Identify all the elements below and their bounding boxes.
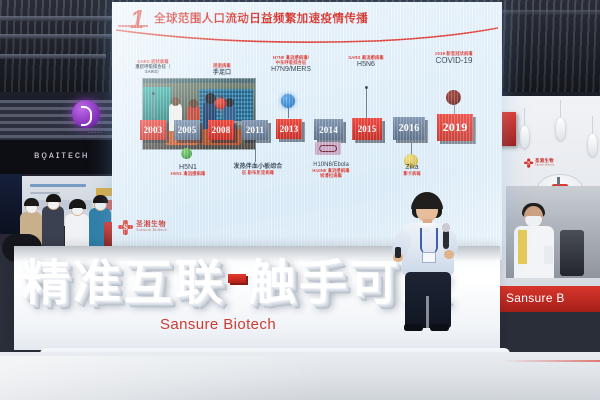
presenter-shoe (430, 324, 449, 331)
counter-bottle (544, 246, 553, 264)
floor-red-streak (500, 360, 600, 362)
pendant-lamp-icon (556, 118, 565, 140)
presenter (392, 192, 464, 332)
right-booth-banner-text: Sansure B (506, 291, 565, 305)
badge-icon (422, 252, 436, 263)
ceiling-beam (500, 10, 600, 15)
right-booth-sansure-logo: S 圣湘生物 Sansure Biotech (524, 156, 571, 170)
headline-dash (228, 274, 246, 283)
pendant-lamp-icon (520, 126, 529, 148)
staff-lanyard (518, 230, 527, 264)
counter-staff (514, 206, 554, 276)
presenter-leg-gap (426, 296, 429, 328)
left-booth-sub-wordmark: ····· (88, 130, 103, 136)
presenter-shoe (404, 324, 423, 331)
floor-reflection (0, 356, 600, 400)
pendant-lamp-icon (588, 134, 597, 156)
stage-headline: 精准互联 触手可及 (22, 252, 452, 314)
screenshot-root: ····· ʙǫᴀɪᴛᴇᴄʜ S (0, 0, 600, 400)
right-booth-banner: Sansure B (492, 286, 600, 312)
headline-part-1: 精准互联 (22, 259, 226, 307)
brand-name-en: Sansure Biotech (535, 164, 554, 166)
sansure-cross-mark-icon: S (524, 158, 533, 167)
presenter-right-hand (444, 250, 454, 259)
microphone-icon (443, 230, 449, 249)
left-booth-wordmark: ʙǫᴀɪᴛᴇᴄʜ (34, 150, 89, 161)
ceiling-beam (0, 54, 106, 59)
ceiling-beam (0, 16, 118, 21)
counter-equipment (560, 230, 584, 276)
stage-subtitle: Sansure Biotech (160, 316, 276, 333)
purple-b-circle-logo-icon (72, 100, 100, 128)
lanyard-icon (420, 228, 438, 254)
ceiling-beam (0, 34, 112, 39)
presentation-clicker-icon (395, 247, 401, 258)
